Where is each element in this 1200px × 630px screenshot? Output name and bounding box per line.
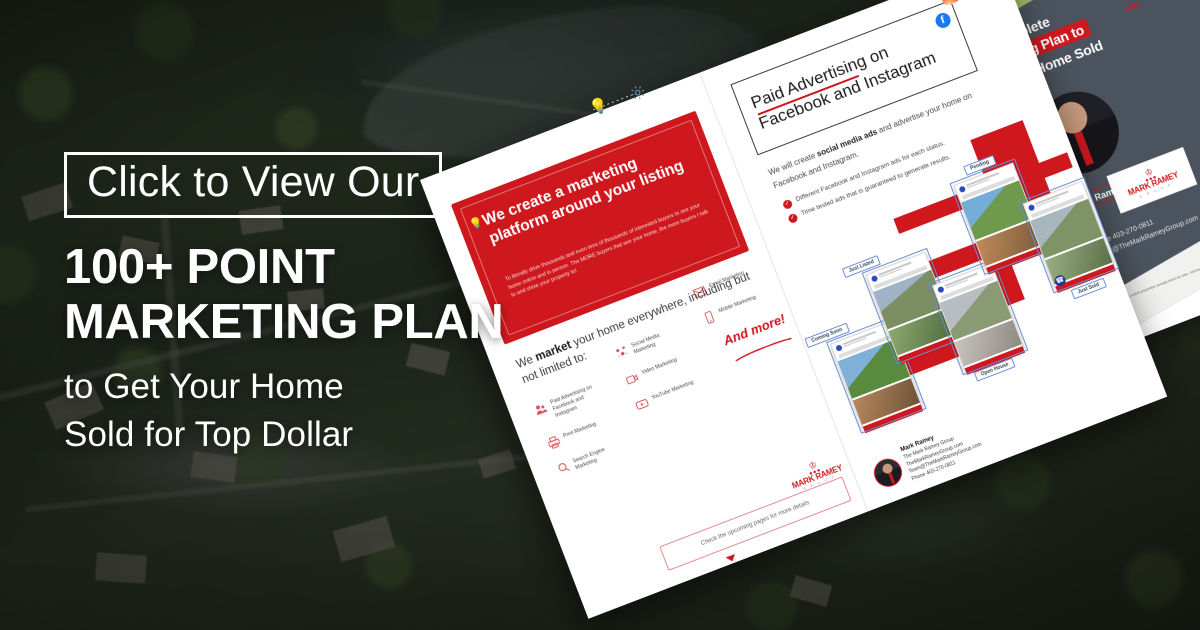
marketing-banner[interactable]: Click to View Our 100+ POINT MARKETING P… xyxy=(0,0,1200,630)
ad-avatar xyxy=(871,275,879,283)
subheadline-line-2: Sold for Top Dollar xyxy=(64,412,534,458)
channel-label: Print Marketing xyxy=(562,419,598,440)
down-triangle-marker xyxy=(725,554,736,563)
facebook-instagram-stamp-icon xyxy=(532,400,550,418)
ad-avatar xyxy=(1028,204,1036,212)
check-circle-icon: ✓ xyxy=(782,199,794,211)
mobile-stamp-icon xyxy=(700,308,718,326)
cta-label: Click to View Our xyxy=(87,161,419,205)
channel-label: Paid Advertising on Facebook and Instagr… xyxy=(549,380,606,420)
youtube-stamp-icon xyxy=(633,395,651,413)
headline-line-1: 100+ POINT xyxy=(64,240,534,295)
instagram-icon xyxy=(939,0,961,6)
video-stamp-icon xyxy=(623,370,641,388)
channel-label: YouTube Marketing xyxy=(650,378,695,402)
social-media-stamp-icon xyxy=(613,343,631,361)
print-stamp-icon xyxy=(545,433,563,451)
channel-label: Mobile Marketing xyxy=(717,293,757,316)
headline-line-2: MARKETING PLAN xyxy=(64,295,534,350)
headline-block: Click to View Our 100+ POINT MARKETING P… xyxy=(64,152,534,458)
channel-label: Video Marketing xyxy=(640,355,678,377)
channel-label: Email Marketing xyxy=(708,268,746,290)
agent-avatar xyxy=(870,454,906,490)
ad-avatar xyxy=(937,286,945,294)
check-circle-icon: ✓ xyxy=(787,213,799,225)
click-to-view-cta[interactable]: Click to View Our xyxy=(64,152,442,218)
subheadline-line-1: to Get Your Home xyxy=(64,364,534,410)
ad-avatar xyxy=(835,344,843,352)
ad-avatar xyxy=(958,185,966,193)
chevron-arrows-icon: ›››› xyxy=(1123,0,1141,15)
search-engine-stamp-icon xyxy=(555,459,573,477)
channel-label: Search Engine Marketing xyxy=(571,439,625,473)
